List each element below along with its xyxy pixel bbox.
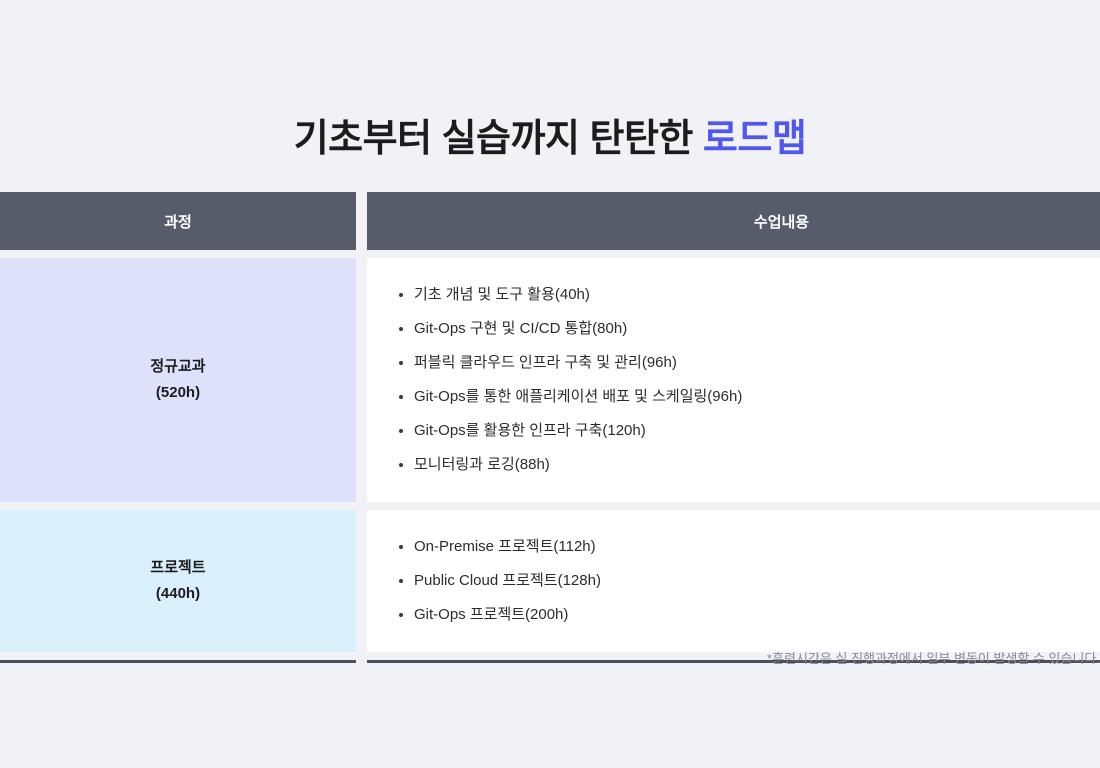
list-item: 모니터링과 로깅(88h) — [397, 448, 1100, 482]
table-row: 정규교과 (520h) 기초 개념 및 도구 활용(40h) Git-Ops 구… — [0, 258, 1100, 502]
curriculum-list-project: On-Premise 프로젝트(112h) Public Cloud 프로젝트(… — [367, 510, 1100, 652]
list-item: 퍼블릭 클라우드 인프라 구축 및 관리(96h) — [397, 346, 1100, 380]
table-header-row: 과정 수업내용 — [0, 192, 1100, 250]
footnote: *훈련시간은 실 진행과정에서 일부 변동이 발생할 수 있습니다. — [0, 648, 1100, 667]
table-header-content: 수업내용 — [367, 192, 1100, 250]
course-name: 정규교과 — [150, 354, 205, 380]
list-item: Public Cloud 프로젝트(128h) — [397, 564, 1100, 598]
content-cell-project: On-Premise 프로젝트(112h) Public Cloud 프로젝트(… — [367, 510, 1100, 652]
content-cell-regular: 기초 개념 및 도구 활용(40h) Git-Ops 구현 및 CI/CD 통합… — [367, 258, 1100, 502]
course-cell-regular: 정규교과 (520h) — [0, 258, 356, 502]
curriculum-table: 과정 수업내용 정규교과 (520h) 기초 개념 및 도구 활용(40h) G… — [0, 192, 1100, 663]
curriculum-list-regular: 기초 개념 및 도구 활용(40h) Git-Ops 구현 및 CI/CD 통합… — [367, 258, 1100, 502]
course-label-project: 프로젝트 (440h) — [150, 555, 205, 608]
course-hours: (520h) — [150, 380, 205, 406]
table-header-course: 과정 — [0, 192, 356, 250]
table-row: 프로젝트 (440h) On-Premise 프로젝트(112h) Public… — [0, 510, 1100, 652]
course-name: 프로젝트 — [150, 555, 205, 581]
list-item: Git-Ops를 통한 애플리케이션 배포 및 스케일링(96h) — [397, 380, 1100, 414]
list-item: 기초 개념 및 도구 활용(40h) — [397, 278, 1100, 312]
list-item: Git-Ops 구현 및 CI/CD 통합(80h) — [397, 312, 1100, 346]
page-title: 기초부터 실습까지 탄탄한 로드맵 — [0, 117, 1100, 163]
page-title-lead: 기초부터 실습까지 탄탄한 — [294, 118, 703, 160]
list-item: On-Premise 프로젝트(112h) — [397, 530, 1100, 564]
course-label-regular: 정규교과 (520h) — [150, 354, 205, 407]
page-title-wrapper: 기초부터 실습까지 탄탄한 로드맵 — [0, 92, 1100, 189]
page-title-accent: 로드맵 — [703, 118, 806, 160]
list-item: Git-Ops 프로젝트(200h) — [397, 598, 1100, 632]
course-cell-project: 프로젝트 (440h) — [0, 510, 356, 652]
course-hours: (440h) — [150, 581, 205, 607]
list-item: Git-Ops를 활용한 인프라 구축(120h) — [397, 414, 1100, 448]
